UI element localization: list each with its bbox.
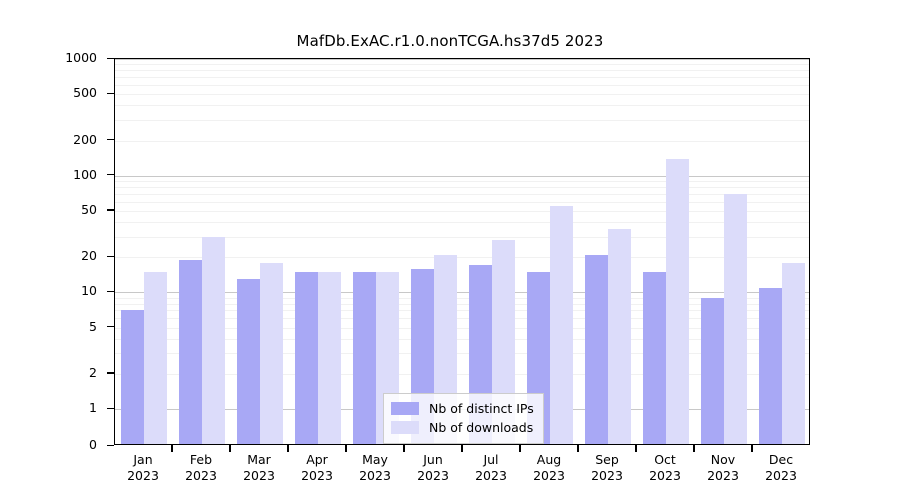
- x-tick-year: 2023: [746, 468, 816, 484]
- y-tick-mark: [107, 291, 114, 292]
- gridline-major: [115, 176, 809, 177]
- chart-legend: Nb of distinct IPsNb of downloads: [383, 393, 544, 444]
- y-tick-mark: [107, 256, 114, 257]
- legend-label: Nb of distinct IPs: [429, 401, 534, 416]
- y-tick-label: 100: [73, 167, 97, 182]
- y-tick-mark: [107, 139, 114, 140]
- y-tick-label: 1: [89, 400, 97, 415]
- x-tick-mark: [693, 445, 694, 452]
- y-tick-mark: [107, 326, 114, 327]
- bar: [701, 298, 724, 445]
- bar: [608, 229, 631, 445]
- x-tick-mark: [577, 445, 578, 452]
- gridline-minor: [115, 70, 809, 71]
- gridline-minor: [115, 120, 809, 121]
- chart-figure: MafDb.ExAC.r1.0.nonTCGA.hs37d5 2023 0125…: [0, 0, 900, 500]
- bar: [202, 237, 225, 445]
- gridline-minor: [115, 194, 809, 195]
- y-tick-mark: [107, 209, 114, 210]
- y-tick-label: 5: [89, 319, 97, 334]
- gridline-minor: [115, 77, 809, 78]
- y-tick-mark: [107, 445, 114, 446]
- legend-item: Nb of distinct IPs: [391, 399, 534, 418]
- x-tick-mark: [751, 445, 752, 452]
- legend-swatch: [391, 402, 419, 415]
- bar: [759, 288, 782, 446]
- y-tick-mark: [107, 174, 114, 175]
- bar: [550, 206, 573, 445]
- x-tick-label: Dec2023: [746, 452, 816, 484]
- bar: [179, 260, 202, 445]
- y-tick-label: 50: [81, 202, 97, 217]
- x-tick-mark: [403, 445, 404, 452]
- gridline-minor: [115, 85, 809, 86]
- gridline-minor: [115, 181, 809, 182]
- gridline-minor: [115, 211, 809, 212]
- gridline-minor: [115, 105, 809, 106]
- legend-label: Nb of downloads: [429, 420, 533, 435]
- legend-swatch: [391, 421, 419, 434]
- y-tick-label: 2: [89, 365, 97, 380]
- x-tick-mark: [635, 445, 636, 452]
- gridline-major: [115, 59, 809, 60]
- y-tick-mark: [107, 58, 114, 59]
- gridline-minor: [115, 187, 809, 188]
- bar: [643, 272, 666, 445]
- x-tick-mark: [287, 445, 288, 452]
- gridline-minor: [115, 141, 809, 142]
- gridline-minor: [115, 222, 809, 223]
- bar: [144, 272, 167, 445]
- legend-item: Nb of downloads: [391, 418, 534, 437]
- bar: [724, 194, 747, 445]
- y-tick-label: 20: [81, 248, 97, 263]
- x-tick-mark: [229, 445, 230, 452]
- plot-area: [114, 58, 810, 445]
- bar: [585, 255, 608, 445]
- y-tick-mark: [107, 408, 114, 409]
- y-tick-mark: [107, 372, 114, 373]
- x-tick-mark: [461, 445, 462, 452]
- y-tick-label: 1000: [65, 50, 97, 65]
- y-tick-label: 200: [73, 132, 97, 147]
- y-tick-label: 10: [81, 283, 97, 298]
- gridline-minor: [115, 64, 809, 65]
- x-tick-mark: [519, 445, 520, 452]
- bar: [666, 159, 689, 445]
- bar: [318, 272, 341, 445]
- gridline-minor: [115, 94, 809, 95]
- chart-title: MafDb.ExAC.r1.0.nonTCGA.hs37d5 2023: [0, 32, 900, 50]
- y-tick-label: 0: [89, 437, 97, 452]
- bar: [782, 263, 805, 445]
- y-tick-label: 500: [73, 85, 97, 100]
- x-tick-month: Dec: [746, 452, 816, 468]
- bar: [260, 263, 283, 445]
- gridline-minor: [115, 202, 809, 203]
- bar: [237, 279, 260, 445]
- x-tick-mark: [171, 445, 172, 452]
- x-tick-mark: [345, 445, 346, 452]
- bar: [353, 272, 376, 445]
- bar: [121, 310, 144, 445]
- bar: [295, 272, 318, 445]
- y-tick-mark: [107, 93, 114, 94]
